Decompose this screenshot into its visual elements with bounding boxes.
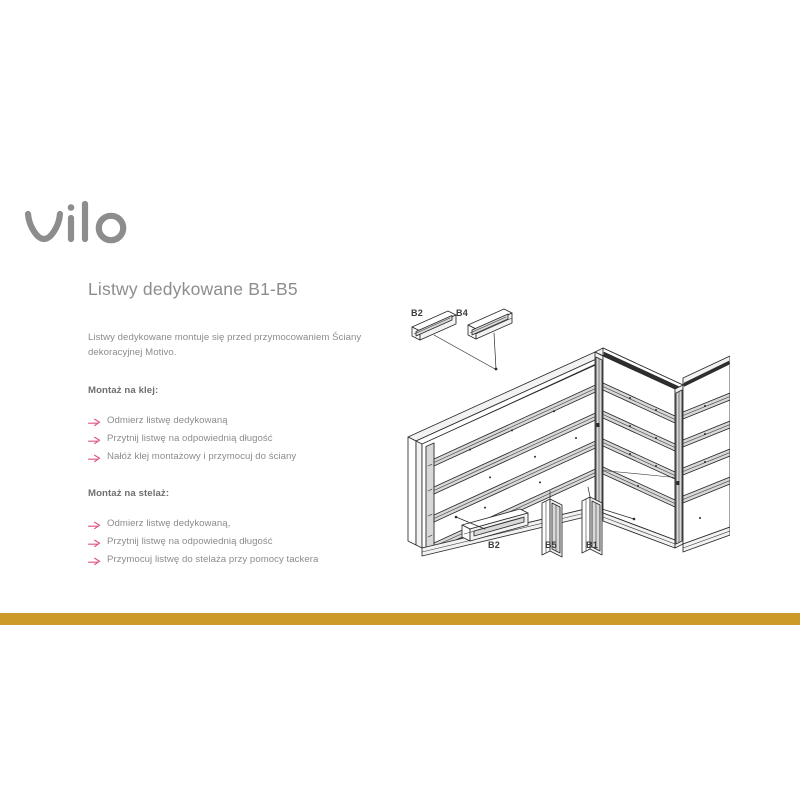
- list-item: Odmierz listwę dedykowaną: [88, 412, 418, 430]
- list-item-label: Przytnij listwę na odpowiednią długość: [107, 536, 273, 547]
- list-item: Przytnij listwę na odpowiednią długość: [88, 533, 418, 551]
- diagram-label-b2-top: B2: [411, 308, 423, 318]
- leader-target-top: [495, 368, 498, 371]
- section-title: Montaż na stelaż:: [88, 488, 418, 499]
- step-list: Odmierz listwę dedykowaną, Przytnij list…: [88, 515, 418, 569]
- arrow-bullet-icon: [88, 417, 101, 426]
- assembly-diagram: .ln { fill:none; stroke:#2b2b2b; stroke-…: [390, 305, 730, 565]
- section-montaz-na-klej: Montaż na klej: Odmierz listwę dedykowan…: [88, 385, 418, 466]
- list-item: Odmierz listwę dedykowaną,: [88, 515, 418, 533]
- diagram-label-b4-top: B4: [456, 308, 468, 318]
- list-item-label: Nałóż klej montażowy i przymocuj do ścia…: [107, 451, 296, 462]
- list-item-label: Odmierz listwę dedykowaną: [107, 415, 228, 426]
- intro-paragraph: Listwy dedykowane montuje się przed przy…: [88, 330, 378, 360]
- list-item: Przymocuj listwę do stelaża przy pomocy …: [88, 551, 418, 569]
- arrow-bullet-icon: [88, 556, 101, 565]
- left-wing-left-return: [408, 437, 422, 548]
- list-item-label: Przytnij listwę na odpowiednią długość: [107, 433, 273, 444]
- diagram-label-b5-bottom: B5: [545, 540, 557, 550]
- left-wing-edge-channel: [426, 443, 434, 551]
- arrow-bullet-icon: [88, 435, 101, 444]
- corner-post-inner: [595, 352, 603, 513]
- outer-corner-post: [675, 385, 683, 548]
- page-root: Listwy dedykowane B1-B5 Listwy dedykowan…: [0, 0, 800, 800]
- list-item-label: Odmierz listwę dedykowaną,: [107, 518, 230, 529]
- section-montaz-na-stelaz: Montaż na stelaż: Odmierz listwę dedykow…: [88, 488, 418, 569]
- section-title: Montaż na klej:: [88, 385, 418, 396]
- page-title: Listwy dedykowane B1-B5: [88, 279, 298, 300]
- arrow-bullet-icon: [88, 538, 101, 547]
- arrow-bullet-icon: [88, 453, 101, 462]
- list-item-label: Przymocuj listwę do stelaża przy pomocy …: [107, 554, 318, 565]
- diagram-label-b2-bottom: B2: [488, 540, 500, 550]
- list-item: Przytnij listwę na odpowiednią długość: [88, 430, 418, 448]
- step-list: Odmierz listwę dedykowaną Przytnij listw…: [88, 412, 418, 466]
- vilo-logo: [24, 196, 134, 254]
- arrow-bullet-icon: [88, 520, 101, 529]
- wall-corner-isometric-drawing: .ln { fill:none; stroke:#2b2b2b; stroke-…: [390, 305, 730, 565]
- leader-b4-top: [494, 333, 496, 369]
- diagram-label-b1-bottom: B1: [586, 540, 598, 550]
- list-item: Nałóż klej montażowy i przymocuj do ścia…: [88, 448, 418, 466]
- vilo-wordmark-icon: [24, 196, 134, 254]
- part-b4-top: [468, 309, 512, 339]
- leader-b2-top: [434, 335, 495, 369]
- accent-bar: [0, 613, 800, 625]
